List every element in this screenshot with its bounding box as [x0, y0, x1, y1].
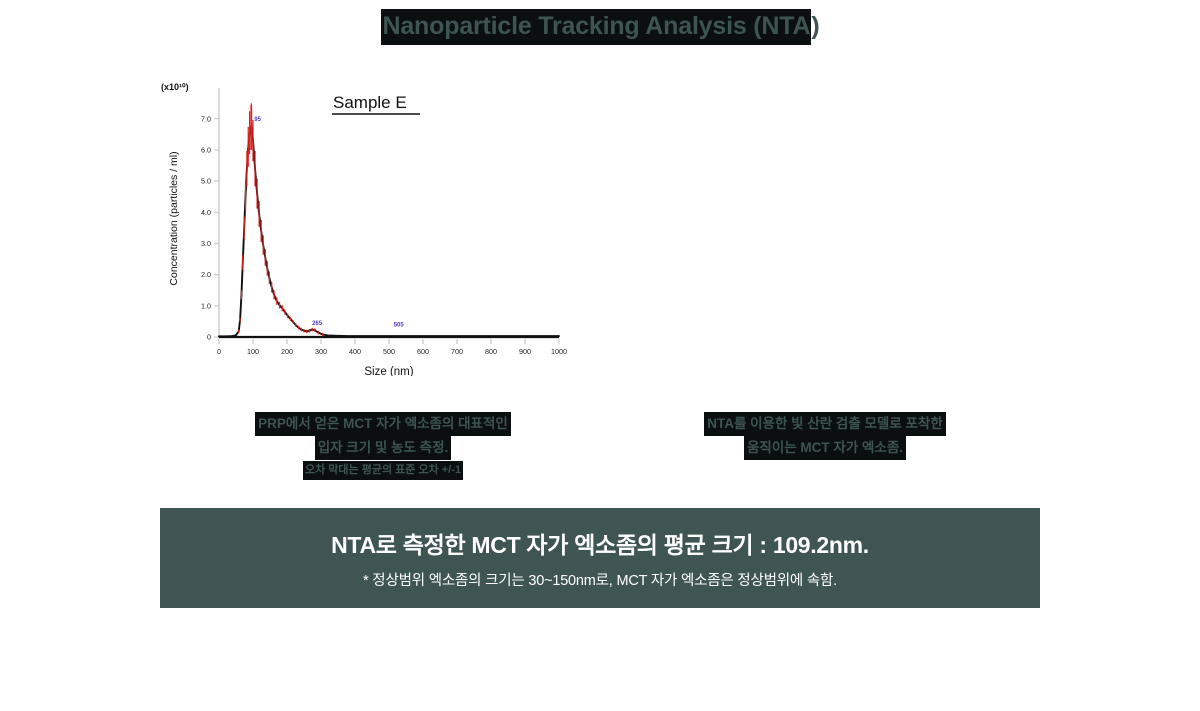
caption-right-line2: 움직이는 MCT 자가 엑소좀. — [744, 436, 906, 460]
summary-headline: NTA로 측정한 MCT 자가 엑소좀의 평균 크기 : 109.2nm. — [331, 526, 869, 560]
summary-banner: NTA로 측정한 MCT 자가 엑소좀의 평균 크기 : 109.2nm. * … — [160, 508, 1040, 608]
concentration-curve — [219, 126, 559, 337]
summary-note: * 정상범위 엑소좀의 크기는 30~150nm로, MCT 자가 엑소좀은 정… — [363, 569, 837, 590]
y-tick-label: 2.0 — [201, 270, 211, 279]
chart-canvas: 01.02.03.04.05.06.07.0(x10¹⁰)Concentrati… — [155, 76, 575, 376]
page-title-highlighted: Nanoparticle Tracking Analysis (NTA — [381, 9, 812, 45]
x-tick-label: 700 — [451, 347, 463, 356]
y-tick-label: 5.0 — [201, 177, 211, 186]
y-tick-label: 0 — [207, 333, 211, 342]
x-tick-label: 400 — [349, 347, 361, 356]
y-tick-label: 3.0 — [201, 239, 211, 248]
peak-annotation: 265 — [312, 321, 323, 327]
page-title: Nanoparticle Tracking Analysis (NTA) — [0, 10, 1200, 42]
y-axis-label: Concentration (particles / ml) — [168, 151, 180, 285]
y-scale-note: (x10¹⁰) — [161, 82, 189, 92]
y-tick-label: 4.0 — [201, 208, 211, 217]
x-tick-label: 500 — [383, 347, 395, 356]
y-tick-label: 1.0 — [201, 301, 211, 310]
x-tick-label: 0 — [217, 347, 221, 356]
x-axis-label: Size (nm) — [364, 366, 413, 376]
x-tick-label: 1000 — [551, 347, 567, 356]
y-tick-label: 7.0 — [201, 114, 211, 123]
caption-right: NTA를 이용한 빛 산란 검출 모델로 포착한 움직이는 MCT 자가 엑소좀… — [625, 412, 1025, 460]
x-tick-label: 100 — [247, 347, 259, 356]
caption-left-line2: 입자 크기 및 농도 측정. — [315, 436, 452, 460]
caption-left-note: 오차 막대는 평균의 표준 오차 +/-1 — [183, 461, 583, 480]
peak-annotation: 95 — [254, 117, 261, 123]
x-tick-label: 300 — [315, 347, 327, 356]
x-tick-label: 900 — [519, 347, 531, 356]
error-bars-group — [239, 103, 323, 336]
page-title-tail: ) — [811, 12, 819, 40]
nta-size-distribution-chart: 01.02.03.04.05.06.07.0(x10¹⁰)Concentrati… — [155, 76, 575, 376]
x-tick-label: 800 — [485, 347, 497, 356]
caption-left-line1: PRP에서 얻은 MCT 자가 엑소좀의 대표적인 — [255, 412, 511, 436]
y-tick-label: 6.0 — [201, 145, 211, 154]
x-tick-label: 600 — [417, 347, 429, 356]
x-tick-label: 200 — [281, 347, 293, 356]
chart-title: Sample E — [333, 93, 407, 112]
caption-left-note-text: 오차 막대는 평균의 표준 오차 +/-1 — [303, 461, 463, 480]
peak-annotation: 505 — [394, 323, 405, 329]
caption-right-line1: NTA를 이용한 빛 산란 검출 모델로 포착한 — [704, 412, 946, 436]
caption-left: PRP에서 얻은 MCT 자가 엑소좀의 대표적인 입자 크기 및 농도 측정. — [183, 412, 583, 460]
